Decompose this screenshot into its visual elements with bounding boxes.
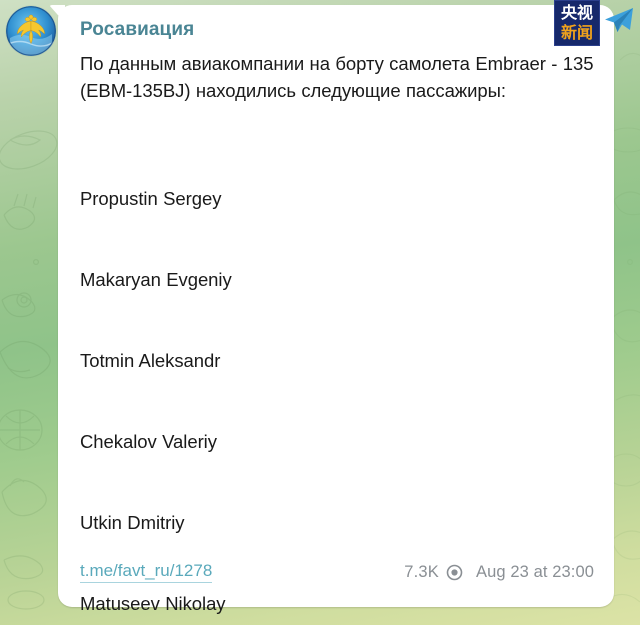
view-count: 7.3K xyxy=(404,562,439,582)
list-item: Propustin Sergey xyxy=(80,185,594,212)
rosaviatsia-emblem-icon xyxy=(6,6,56,56)
passenger-list: Propustin Sergey Makaryan Evgeniy Totmin… xyxy=(80,131,594,625)
list-item: Makaryan Evgeniy xyxy=(80,266,594,293)
avatar[interactable] xyxy=(6,6,56,56)
list-item: Utkin Dmitriy xyxy=(80,509,594,536)
list-item: Chekalov Valeriy xyxy=(80,428,594,455)
message-meta: 7.3K Aug 23 at 23:00 xyxy=(404,562,594,582)
cctv-logo-bottom-text: 新闻 xyxy=(557,23,597,43)
paragraph-spacer-1 xyxy=(80,104,594,131)
cctv-logo-top-text: 央视 xyxy=(557,3,597,23)
timestamp: Aug 23 at 23:00 xyxy=(476,562,594,582)
message-footer: t.me/favt_ru/1278 7.3K Aug 23 at 23:00 xyxy=(80,561,594,583)
message-bubble: Росавиация По данным авиакомпании на бор… xyxy=(58,5,614,607)
post-link[interactable]: t.me/favt_ru/1278 xyxy=(80,561,212,583)
telegram-plane-icon xyxy=(602,6,636,36)
list-item: Totmin Aleksandr xyxy=(80,347,594,374)
list-item: Matuseev Nikolay xyxy=(80,590,594,617)
channel-name[interactable]: Росавиация xyxy=(80,19,594,41)
watermark: 央视 新闻 xyxy=(554,0,636,46)
message-intro-paragraph: По данным авиакомпании на борту самолета… xyxy=(80,50,594,104)
cctv-news-logo: 央视 新闻 xyxy=(554,0,600,46)
eye-icon xyxy=(446,564,463,581)
